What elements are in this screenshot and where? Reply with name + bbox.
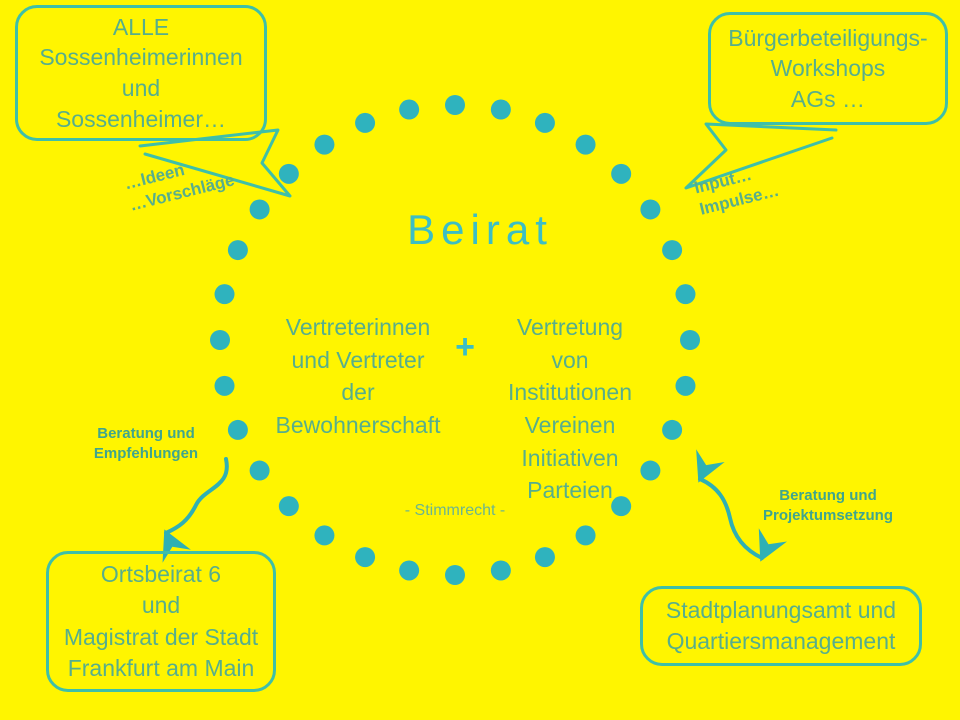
diagram-canvas: ALLE Sossenheimerinnen und Sossenheimer…… [0, 0, 960, 720]
arrow-beratung-empfehlungen [166, 459, 227, 533]
ring-dot [445, 565, 465, 585]
center-column-residents: Vertreterinnen und Vertreter der Bewohne… [258, 311, 458, 442]
box-ortsbeirat-label: Ortsbeirat 6 und Magistrat der Stadt Fra… [64, 559, 258, 683]
ring-dot [680, 330, 700, 350]
ring-dot [491, 560, 511, 580]
box-stadtplanung-label: Stadtplanungsamt und Quartiersmanagement [666, 595, 896, 657]
stimmrecht-footnote: - Stimmrecht - [355, 500, 555, 521]
box-ortsbeirat[interactable]: Ortsbeirat 6 und Magistrat der Stadt Fra… [46, 551, 276, 692]
callout-workshops-label: Bürgerbeteiligungs- Workshops AGs … [728, 23, 927, 115]
ring-dot [314, 525, 334, 545]
ring-dot [675, 376, 695, 396]
ring-dot [228, 420, 248, 440]
ring-dot [445, 95, 465, 115]
page-title: Beirat [0, 202, 960, 257]
ring-dot [210, 330, 230, 350]
ring-dot [675, 284, 695, 304]
ring-dot [215, 376, 235, 396]
ring-dot [399, 100, 419, 120]
callout-workshops[interactable]: Bürgerbeteiligungs- Workshops AGs … [708, 12, 948, 125]
ring-dot [576, 135, 596, 155]
ring-dot [491, 100, 511, 120]
ring-dot [279, 164, 299, 184]
ring-dot [399, 560, 419, 580]
arrow-label-beratung-projektumsetzung: Beratung und Projektumsetzung [742, 486, 914, 527]
ring-dot [314, 135, 334, 155]
callout-residents[interactable]: ALLE Sossenheimerinnen und Sossenheimer… [15, 5, 267, 141]
center-column-institutions: Vertretung von Institutionen Vereinen In… [470, 311, 670, 507]
ring-dot [576, 525, 596, 545]
ring-dot [355, 113, 375, 133]
box-stadtplanung[interactable]: Stadtplanungsamt und Quartiersmanagement [640, 586, 922, 666]
callout-residents-label: ALLE Sossenheimerinnen und Sossenheimer… [39, 12, 242, 134]
ring-dot [215, 284, 235, 304]
ring-dot [250, 461, 270, 481]
arrow-label-beratung-empfehlungen: Beratung und Empfehlungen [78, 424, 214, 465]
ring-dot [279, 496, 299, 516]
ring-dot [535, 113, 555, 133]
ring-dot [611, 164, 631, 184]
ring-dot [355, 547, 375, 567]
ring-dot [535, 547, 555, 567]
